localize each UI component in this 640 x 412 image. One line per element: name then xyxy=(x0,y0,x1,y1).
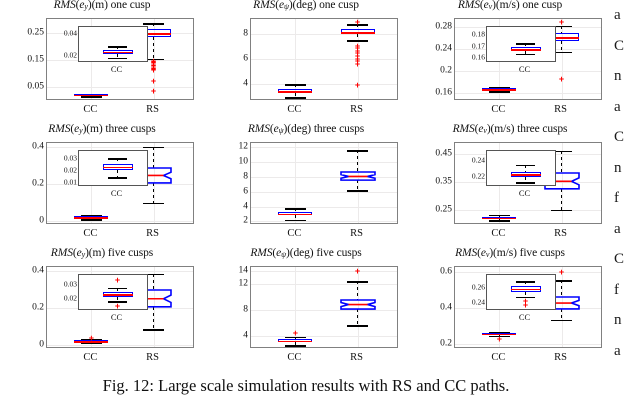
y-axis-tick-label: 8 xyxy=(243,29,248,39)
whisker-lower xyxy=(117,170,118,178)
whisker-upper xyxy=(561,151,562,173)
subplot-2: RMS(eψ)(deg) one cusp864++++++++++CCRS xyxy=(204,0,408,124)
y-axis-tick-label: 0 xyxy=(39,341,44,351)
whisker-cap-lower xyxy=(489,91,510,93)
x-axis-label-rs: RS xyxy=(123,104,183,115)
median-line xyxy=(103,52,133,54)
outlier-marker: + xyxy=(115,277,120,283)
subplot-title: RMS(ev)(m/s) three cusps xyxy=(408,123,612,135)
subplot-6: RMS(ev)(m/s) three cusps0.450.350.25CCRS… xyxy=(408,124,612,248)
x-axis-label-cc: CC xyxy=(60,104,120,115)
whisker-cap-upper xyxy=(143,23,164,25)
x-axis-label-rs: RS xyxy=(531,104,591,115)
inset-y-tick-label: 0.24 xyxy=(472,156,485,164)
subplot-title: RMS(ey)(m) one cusp xyxy=(0,0,204,11)
whisker-cap-upper xyxy=(143,147,164,149)
outlier-marker: + xyxy=(355,19,360,25)
x-axis-label-cc: CC xyxy=(60,228,120,239)
inset-y-tick-label: 0.17 xyxy=(472,42,485,50)
whisker-lower xyxy=(357,180,358,190)
margin-text-fragment: C xyxy=(614,244,640,275)
gridline xyxy=(251,192,397,193)
y-axis-tick-label: 0.4 xyxy=(32,142,44,152)
whisker-lower xyxy=(153,183,154,203)
subplot-9: RMS(ev)(m/s) five cusps0.60.40.2++CCRS0.… xyxy=(408,248,612,372)
inset-plot-area: 0.030.02++ xyxy=(78,274,148,310)
inset-y-tick-label: 0.16 xyxy=(472,53,485,61)
whisker-lower xyxy=(357,309,358,325)
outlier-marker: + xyxy=(151,78,156,84)
inset-y-tick-label: 0.18 xyxy=(472,30,485,38)
inset-y-tick-label: 0.04 xyxy=(64,30,77,38)
outlier-marker: + xyxy=(89,335,94,341)
median-line xyxy=(74,95,108,97)
inset-zoom: 0.040.02CC xyxy=(78,26,148,76)
whisker-cap-upper xyxy=(516,43,535,45)
x-axis-label-rs: RS xyxy=(327,352,387,363)
y-axis-tick-label: 0.16 xyxy=(435,88,452,98)
y-axis-tick-label: 6 xyxy=(243,54,248,64)
y-axis-tick-label: 0.35 xyxy=(435,177,452,187)
inset-plot-area: 0.240.22 xyxy=(486,150,556,186)
inset-y-tick-label: 0.24 xyxy=(472,298,485,306)
whisker-cap-lower xyxy=(81,343,102,345)
y-axis-tick-label: 0.24 xyxy=(435,44,452,54)
whisker-lower xyxy=(561,309,562,320)
subplot-7: RMS(ey)(m) five cusps0.40.20+CCRS0.030.0… xyxy=(0,248,204,372)
x-axis-label-cc: CC xyxy=(264,104,324,115)
subplot-5: RMS(eψ)(deg) three cusps12108642CCRS xyxy=(204,124,408,248)
y-axis-tick-label: 10 xyxy=(239,157,249,167)
plot-area: 141284++ xyxy=(250,266,398,348)
margin-text-fragment: n xyxy=(614,305,640,336)
whisker-lower xyxy=(561,189,562,210)
median-line xyxy=(482,218,516,220)
whisker-lower xyxy=(153,37,154,59)
outlier-marker: + xyxy=(293,330,298,336)
inset-plot-area: 0.260.24++ xyxy=(486,274,556,310)
inset-y-tick-label: 0.03 xyxy=(64,154,77,162)
y-axis-tick-label: 0.28 xyxy=(435,22,452,32)
plot-area: 12108642 xyxy=(250,142,398,224)
x-axis-label-cc: CC xyxy=(264,228,324,239)
margin-text-fragment: a xyxy=(614,214,640,245)
subplot-1: RMS(ey)(m) one cusp0.250.150.05+++++++++… xyxy=(0,0,204,124)
whisker-lower xyxy=(153,307,154,329)
gridline xyxy=(251,207,397,208)
whisker-upper xyxy=(153,147,154,168)
median-line xyxy=(74,217,108,219)
gridline xyxy=(47,271,193,272)
median-line xyxy=(278,341,312,343)
whisker-cap-lower xyxy=(347,190,368,192)
outlier-marker: + xyxy=(559,269,564,275)
gridline xyxy=(251,34,397,35)
gridline xyxy=(251,271,397,272)
whisker-cap-upper xyxy=(285,208,306,210)
x-axis-label-rs: RS xyxy=(327,104,387,115)
subplot-title: RMS(eψ)(deg) three cusps xyxy=(204,123,408,135)
whisker-cap-upper xyxy=(347,281,368,283)
whisker-upper xyxy=(357,150,358,171)
y-axis-tick-label: 14 xyxy=(239,266,249,276)
outlier-marker: + xyxy=(355,268,360,274)
y-axis-tick-label: 4 xyxy=(243,202,248,212)
whisker-cap-lower xyxy=(143,203,164,205)
whisker-upper xyxy=(561,280,562,297)
gridline xyxy=(251,59,397,60)
y-axis-tick-label: 12 xyxy=(239,279,249,289)
whisker-cap-upper xyxy=(516,281,535,283)
inset-label: CC xyxy=(505,64,545,74)
whisker-cap-lower xyxy=(108,58,127,60)
y-axis-tick-label: 0.2 xyxy=(440,339,452,349)
x-axis-label-cc: CC xyxy=(60,352,120,363)
inset-y-tick-label: 0.02 xyxy=(64,166,77,174)
margin-text-fragment: n xyxy=(614,61,640,92)
y-axis-tick-label: 12 xyxy=(239,143,249,153)
gridline xyxy=(455,93,601,94)
figure-12: RMS(ey)(m) one cusp0.250.150.05+++++++++… xyxy=(0,0,612,412)
whisker-cap-lower xyxy=(143,329,164,331)
gridline xyxy=(47,345,193,346)
x-axis-label-rs: RS xyxy=(327,228,387,239)
y-axis-tick-label: 0.15 xyxy=(27,55,44,65)
gridline xyxy=(455,344,601,345)
subplot-8: RMS(eψ)(deg) five cusps141284++CCRS xyxy=(204,248,408,372)
inset-y-tick-label: 0.22 xyxy=(472,172,485,180)
outlier-marker: + xyxy=(115,303,120,309)
whisker-cap-lower xyxy=(285,220,306,222)
gridline xyxy=(47,87,193,88)
whisker-cap-lower xyxy=(285,345,306,347)
x-axis-label-cc: CC xyxy=(468,352,528,363)
plot-area: 864++++++++++ xyxy=(250,18,398,100)
gridline xyxy=(251,162,397,163)
inset-zoom: 0.260.24++CC xyxy=(486,274,556,324)
gridline xyxy=(251,147,397,148)
whisker-cap-lower xyxy=(347,325,368,327)
inset-label: CC xyxy=(97,188,137,198)
subplot-title: RMS(ey)(m) five cusps xyxy=(0,247,204,259)
y-axis-tick-label: 0.4 xyxy=(440,303,452,313)
median-line xyxy=(341,32,375,34)
outlier-marker: + xyxy=(559,76,564,82)
inset-y-tick-label: 0.02 xyxy=(64,294,77,302)
inset-label: CC xyxy=(505,312,545,322)
whisker-lower xyxy=(561,41,562,52)
y-axis-tick-label: 0.05 xyxy=(27,83,44,93)
whisker-cap-upper xyxy=(285,84,306,86)
inset-plot-area: 0.030.020.01 xyxy=(78,150,148,186)
y-axis-tick-label: 0.25 xyxy=(27,28,44,38)
inset-y-tick-label: 0.03 xyxy=(64,281,77,289)
inset-label: CC xyxy=(97,64,137,74)
inset-plot-area: 0.040.02 xyxy=(78,26,148,62)
y-axis-tick-label: 0.2 xyxy=(32,179,44,189)
inset-plot-area: 0.180.170.16 xyxy=(486,26,556,62)
y-axis-tick-label: 8 xyxy=(243,305,248,315)
inset-y-tick-label: 0.02 xyxy=(64,51,77,59)
inset-label: CC xyxy=(97,312,137,322)
adjacent-column-text-bleed: aCnaCnfaCfna xyxy=(614,0,640,412)
margin-text-fragment: a xyxy=(614,0,640,31)
outlier-marker: + xyxy=(151,88,156,94)
whisker-cap-lower xyxy=(489,220,510,222)
gridline xyxy=(251,310,397,311)
median-line xyxy=(511,49,541,51)
outlier-marker: + xyxy=(559,19,564,25)
subplot-4: RMS(ey)(m) three cusps0.40.20CCRS0.030.0… xyxy=(0,124,204,248)
x-axis-label-cc: CC xyxy=(264,352,324,363)
y-axis-tick-label: 0.2 xyxy=(440,66,452,76)
subplot-title: RMS(eψ)(deg) one cusp xyxy=(204,0,408,11)
whisker-cap-lower xyxy=(81,219,102,221)
outlier-marker: + xyxy=(355,82,360,88)
y-axis-tick-label: 0.6 xyxy=(440,268,452,278)
margin-text-fragment: C xyxy=(614,31,640,62)
y-axis-tick-label: 6 xyxy=(243,187,248,197)
whisker-cap-upper xyxy=(108,46,127,48)
y-axis-tick-label: 0 xyxy=(39,217,44,227)
median-line xyxy=(278,91,312,93)
x-axis-label-rs: RS xyxy=(123,228,183,239)
whisker-cap-lower xyxy=(516,54,535,56)
gridline xyxy=(251,221,397,222)
y-axis-tick-label: 0.25 xyxy=(435,205,452,215)
x-axis-label-cc: CC xyxy=(468,228,528,239)
whisker-cap-lower xyxy=(285,97,306,99)
median-line xyxy=(103,167,133,169)
subplot-title: RMS(ey)(m) three cusps xyxy=(0,123,204,135)
gridline xyxy=(251,336,397,337)
subplot-3: RMS(ev)(m/s) one cusp0.280.240.20.16++CC… xyxy=(408,0,612,124)
y-axis-tick-label: 0.2 xyxy=(32,303,44,313)
y-axis-tick-label: 0.4 xyxy=(32,266,44,276)
outlier-marker: + xyxy=(151,67,156,73)
y-axis-tick-label: 0.45 xyxy=(435,149,452,159)
median-line xyxy=(511,289,541,291)
inset-zoom: 0.030.02++CC xyxy=(78,274,148,324)
y-axis-tick-label: 8 xyxy=(243,172,248,182)
inset-zoom: 0.180.170.16CC xyxy=(486,26,556,76)
gridline xyxy=(251,284,397,285)
subplot-title: RMS(eψ)(deg) five cusps xyxy=(204,247,408,259)
whisker-cap-upper xyxy=(347,150,368,152)
inset-zoom: 0.030.020.01CC xyxy=(78,150,148,200)
x-axis-label-rs: RS xyxy=(531,352,591,363)
inset-label: CC xyxy=(505,188,545,198)
median-line xyxy=(511,174,541,176)
subplot-title: RMS(ev)(m/s) five cusps xyxy=(408,247,612,259)
whisker-cap-lower xyxy=(108,177,127,179)
gridline xyxy=(455,210,601,211)
inset-zoom: 0.240.22CC xyxy=(486,150,556,200)
median-line xyxy=(482,89,516,91)
median-line xyxy=(278,214,312,216)
x-axis-label-rs: RS xyxy=(123,352,183,363)
margin-text-fragment: n xyxy=(614,153,640,184)
whisker-cap-upper xyxy=(108,158,127,160)
box-notched xyxy=(341,172,375,180)
outlier-marker: + xyxy=(497,336,502,342)
y-axis-tick-label: 2 xyxy=(243,217,248,227)
subplot-grid: RMS(ey)(m) one cusp0.250.150.05+++++++++… xyxy=(0,0,612,372)
whisker-upper xyxy=(153,274,154,291)
margin-text-fragment: a xyxy=(614,336,640,367)
margin-text-fragment: f xyxy=(614,275,640,306)
margin-text-fragment: C xyxy=(614,122,640,153)
x-axis-label-rs: RS xyxy=(531,228,591,239)
whisker-cap-lower xyxy=(551,210,572,212)
inset-y-tick-label: 0.01 xyxy=(64,178,77,186)
box-notched xyxy=(341,300,375,309)
margin-text-fragment: a xyxy=(614,92,640,123)
y-axis-tick-label: 4 xyxy=(243,79,248,89)
margin-text-fragment: f xyxy=(614,183,640,214)
whisker-cap-lower xyxy=(516,182,535,184)
figure-caption: Fig. 12: Large scale simulation results … xyxy=(0,376,612,396)
whisker-cap-upper xyxy=(108,288,127,290)
gridline xyxy=(47,221,193,222)
whisker-upper xyxy=(357,281,358,299)
outlier-marker: + xyxy=(355,61,360,67)
x-axis-label-cc: CC xyxy=(468,104,528,115)
gridline xyxy=(47,147,193,148)
inset-y-tick-label: 0.26 xyxy=(472,283,485,291)
y-axis-tick-label: 4 xyxy=(243,331,248,341)
median-line xyxy=(103,294,133,296)
outlier-marker: + xyxy=(523,302,528,308)
gridline xyxy=(251,84,397,85)
whisker-cap-upper xyxy=(516,165,535,167)
subplot-title: RMS(ev)(m/s) one cusp xyxy=(408,0,612,11)
